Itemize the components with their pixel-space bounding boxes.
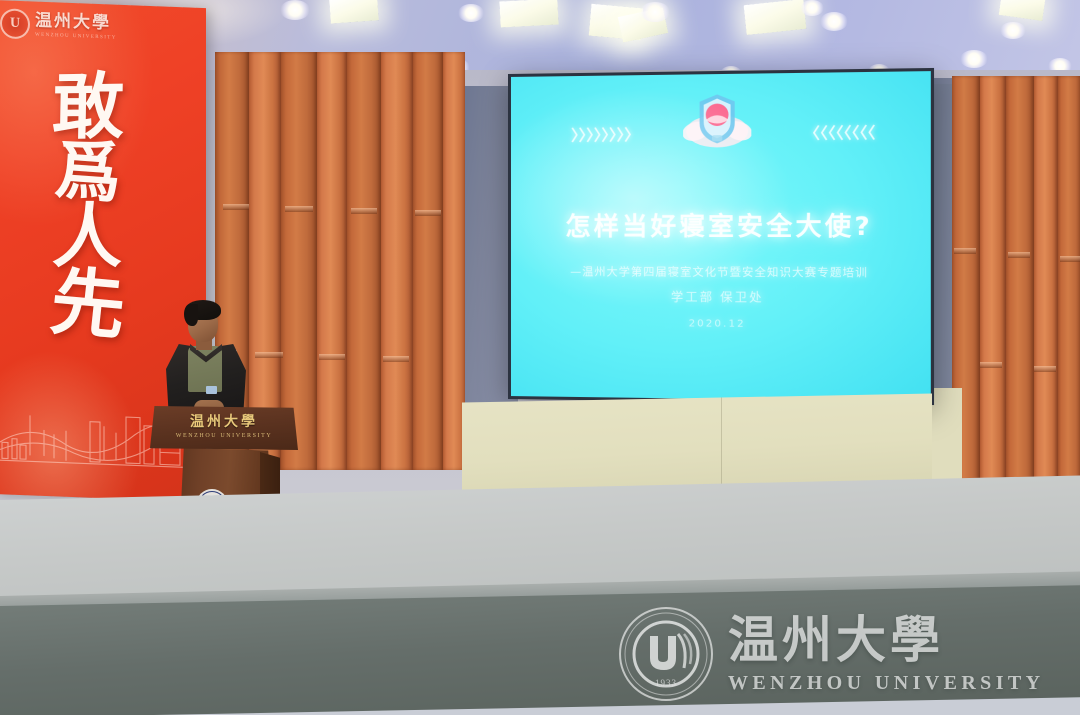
chevron-arrows-left: 〉〉〉〉〉〉〉〉 xyxy=(571,124,639,146)
wood-slat xyxy=(980,76,1006,504)
wood-slat xyxy=(1058,76,1080,504)
speaker-person xyxy=(160,300,256,422)
banner-logo-cn: 温州大學 xyxy=(35,12,117,32)
projection-screen-frame: 〉〉〉〉〉〉〉〉 〈〈〈〈〈〈〈〈 怎样当好寝室安全大使? —温州大学第四届寝室… xyxy=(508,68,934,405)
ceiling-downlight xyxy=(960,50,988,68)
wood-slat-step xyxy=(223,204,249,210)
floor xyxy=(0,585,1080,715)
ceiling-panel-light xyxy=(499,0,558,27)
ceiling-downlight xyxy=(800,0,824,16)
slide-date: 2020.12 xyxy=(511,317,931,331)
podium-nameplate: 温州大學 WENZHOU UNIVERSITY xyxy=(150,415,298,439)
slide-title: 怎样当好寝室安全大使? xyxy=(511,206,931,243)
wood-slat xyxy=(413,52,443,470)
wood-slat-step xyxy=(1034,366,1056,372)
podium-name-cn: 温州大學 xyxy=(150,415,298,429)
ceiling-downlight xyxy=(1000,22,1026,39)
ceiling-panel-light xyxy=(329,0,379,24)
wood-panel-wall-right xyxy=(952,76,1080,504)
podium-name-en: WENZHOU UNIVERSITY xyxy=(150,433,298,439)
wood-slat-step xyxy=(1060,256,1080,262)
wood-slat-step xyxy=(383,356,409,362)
ceiling-downlight xyxy=(820,12,848,31)
police-badge-icon xyxy=(683,90,751,154)
wood-slat-step xyxy=(1008,252,1030,258)
wall-seam xyxy=(721,398,722,490)
wood-slat-step xyxy=(351,208,377,214)
wood-slat-step xyxy=(255,352,283,358)
wood-slat-step xyxy=(285,206,313,212)
podium-top-panel: 温州大學 WENZHOU UNIVERSITY xyxy=(150,406,298,450)
speaker-hair-side xyxy=(184,304,198,326)
university-logo-icon xyxy=(0,8,30,39)
wood-slat xyxy=(347,52,381,470)
wood-slat-step xyxy=(415,210,441,216)
calligraphy-char: 先 xyxy=(47,268,128,342)
wood-slat xyxy=(381,52,413,470)
ceiling-downlight xyxy=(458,4,484,22)
stage-back-cream-wall xyxy=(462,393,932,494)
banner-logo-text: 温州大學 WENZHOU UNIVERSITY xyxy=(35,12,117,40)
projection-screen: 〉〉〉〉〉〉〉〉 〈〈〈〈〈〈〈〈 怎样当好寝室安全大使? —温州大学第四届寝室… xyxy=(511,71,931,402)
ceiling-downlight xyxy=(280,0,310,20)
wood-slat-step xyxy=(954,248,976,254)
right-wall-cream-strip xyxy=(930,388,962,484)
speaker-badge xyxy=(206,386,217,394)
slide-subtitle-2: 学工部 保卫处 xyxy=(511,287,931,306)
wood-slat-step xyxy=(980,362,1002,368)
slide-subtitle-1: —温州大学第四届寝室文化节暨安全知识大赛专题培训 xyxy=(511,263,931,281)
chevron-arrows-right: 〈〈〈〈〈〈〈〈 xyxy=(804,121,875,143)
wood-slat xyxy=(1006,76,1034,504)
wood-slat xyxy=(1034,76,1058,504)
lecture-hall-photo: 〉〉〉〉〉〉〉〉 〈〈〈〈〈〈〈〈 怎样当好寝室安全大使? —温州大学第四届寝室… xyxy=(0,0,1080,715)
ceiling-downlight xyxy=(640,2,670,22)
banner-calligraphy: 敢 爲 人 先 xyxy=(28,71,148,341)
wood-slat xyxy=(317,52,347,470)
wood-slat-step xyxy=(319,354,345,360)
banner-university-logo: 温州大學 WENZHOU UNIVERSITY xyxy=(0,8,117,42)
